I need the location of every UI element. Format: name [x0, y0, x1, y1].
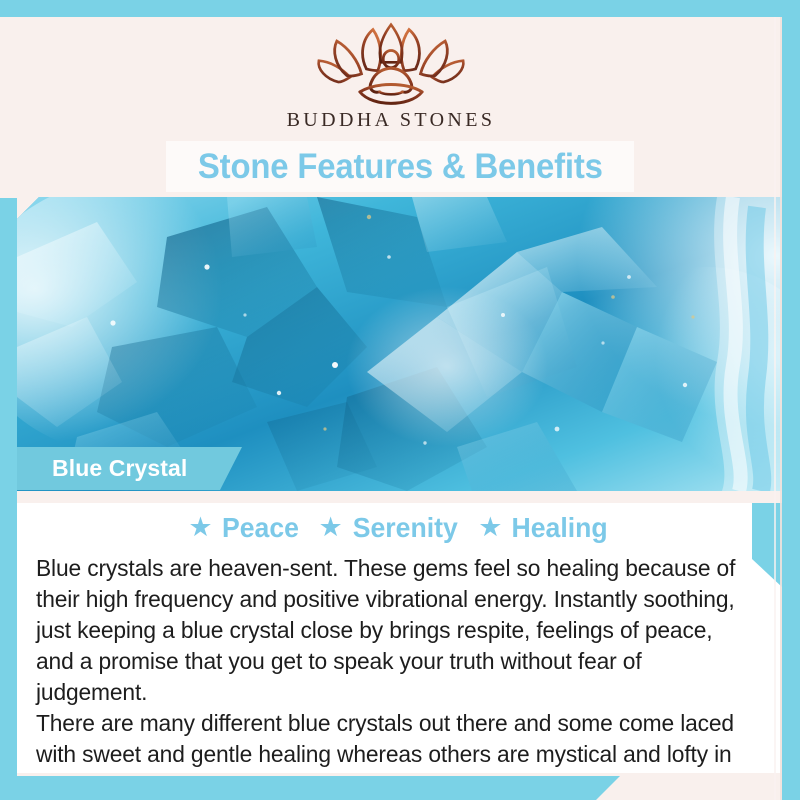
feature-label-healing: Healing — [512, 512, 608, 544]
brand-name: BUDDHA STONES — [287, 109, 496, 132]
star-icon: ★ — [319, 514, 343, 541]
crystal-hero-image — [17, 197, 782, 491]
feature-item-serenity: ★ Serenity — [319, 512, 461, 544]
feature-label-serenity: Serenity — [353, 512, 458, 544]
title-banner: Stone Features & Benefits — [166, 141, 634, 192]
frame-hairline-outer — [774, 17, 776, 800]
frame-band-left — [0, 198, 17, 800]
crystal-texture — [17, 197, 782, 491]
feature-keyword-row: ★ Peace ★ Serenity ★ Healing — [17, 512, 782, 544]
stone-name-tag: Blue Crystal — [17, 447, 242, 490]
star-icon: ★ — [188, 514, 212, 541]
feature-item-healing: ★ Healing — [478, 512, 610, 544]
brand-block: BUDDHA STONES — [0, 17, 782, 143]
stone-name-label: Blue Crystal — [52, 455, 187, 482]
stone-info-poster: BUDDHA STONES Stone Features & Benefits — [0, 0, 800, 800]
page-title: Stone Features & Benefits — [198, 147, 603, 187]
frame-hairline-inner — [780, 17, 782, 800]
frame-band-right — [782, 0, 800, 800]
feature-item-peace: ★ Peace — [188, 512, 300, 544]
star-icon: ★ — [478, 514, 502, 541]
frame-band-bottom — [0, 776, 620, 800]
lotus-meditation-icon — [309, 21, 473, 107]
feature-label-peace: Peace — [222, 512, 299, 544]
description-text: Blue crystals are heaven-sent. These gem… — [36, 553, 748, 800]
description-paragraph-1: Blue crystals are heaven-sent. These gem… — [36, 553, 748, 708]
frame-band-top — [0, 0, 800, 17]
